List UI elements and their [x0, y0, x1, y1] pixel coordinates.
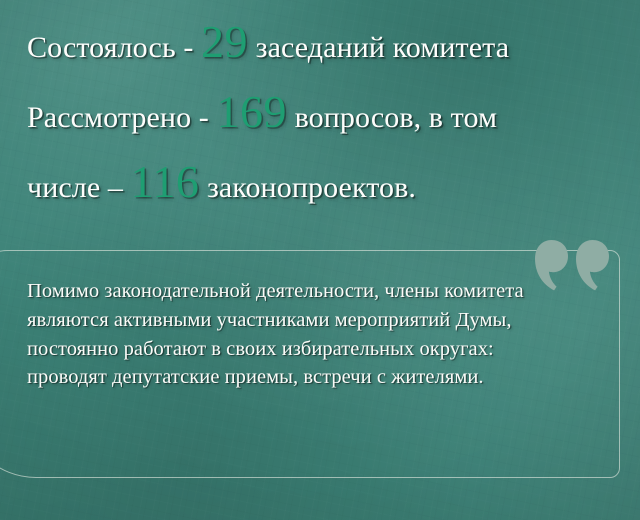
headline-line-3-suffix: законопроектов.: [199, 171, 416, 204]
headline-line-3: числе – 116 законопроектов.: [27, 150, 618, 220]
statistic-number-meetings: 29: [201, 16, 248, 67]
headline-line-1-prefix: Состоялось -: [27, 31, 201, 64]
statistic-number-questions: 169: [216, 86, 287, 137]
headline-line-2-suffix: вопросов, в том: [287, 101, 497, 134]
callout-body-text: Помимо законодательной деятельности, чле…: [27, 277, 567, 392]
headline-line-1-suffix: заседаний комитета: [248, 31, 509, 64]
statistic-number-bills: 116: [131, 156, 200, 207]
headline-line-1: Состоялось - 29 заседаний комитета: [27, 10, 618, 80]
presentation-slide: Состоялось - 29 заседаний комитета Рассм…: [0, 0, 640, 520]
headline-line-2: Рассмотрено - 169 вопросов, в том: [27, 80, 618, 150]
headline-line-2-prefix: Рассмотрено -: [27, 101, 216, 134]
headline-block: Состоялось - 29 заседаний комитета Рассм…: [0, 0, 640, 220]
headline-line-3-prefix: числе –: [27, 171, 131, 204]
